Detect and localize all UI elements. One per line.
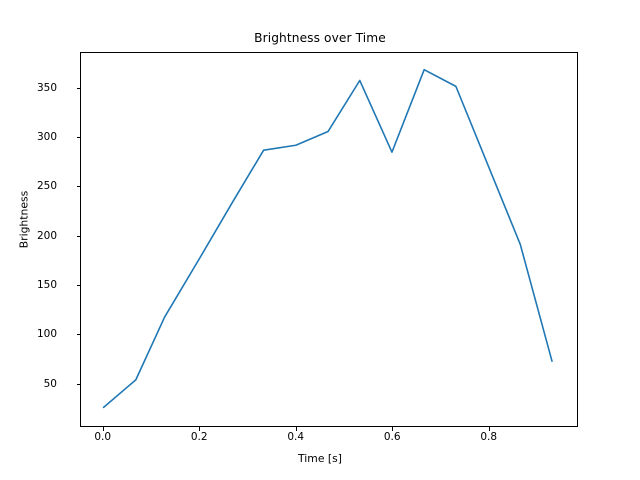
x-tick-label: 0.0 (94, 431, 111, 443)
y-tick-label: 200 (37, 230, 57, 242)
x-tick-mark (392, 427, 393, 431)
y-tick-label: 350 (37, 82, 57, 94)
line-series-svg (81, 53, 577, 426)
x-tick-label: 0.8 (480, 431, 497, 443)
x-tick-mark (199, 427, 200, 431)
x-tick-label: 0.6 (384, 431, 401, 443)
brightness-line (104, 70, 552, 408)
y-axis-label: Brightness (18, 120, 31, 320)
x-tick-mark (296, 427, 297, 431)
x-axis-label: Time [s] (0, 452, 640, 465)
x-tick-mark (489, 427, 490, 431)
x-tick-mark (103, 427, 104, 431)
y-tick-label: 100 (37, 328, 57, 340)
y-tick-label: 50 (44, 378, 57, 390)
y-tick-label: 300 (37, 131, 57, 143)
plot-axes (80, 52, 578, 427)
x-tick-label: 0.4 (287, 431, 304, 443)
chart-figure: Brightness over Time 5010015020025030035… (0, 0, 640, 480)
chart-title: Brightness over Time (0, 31, 640, 45)
x-tick-label: 0.2 (191, 431, 208, 443)
y-tick-label: 150 (37, 279, 57, 291)
y-tick-label: 250 (37, 180, 57, 192)
